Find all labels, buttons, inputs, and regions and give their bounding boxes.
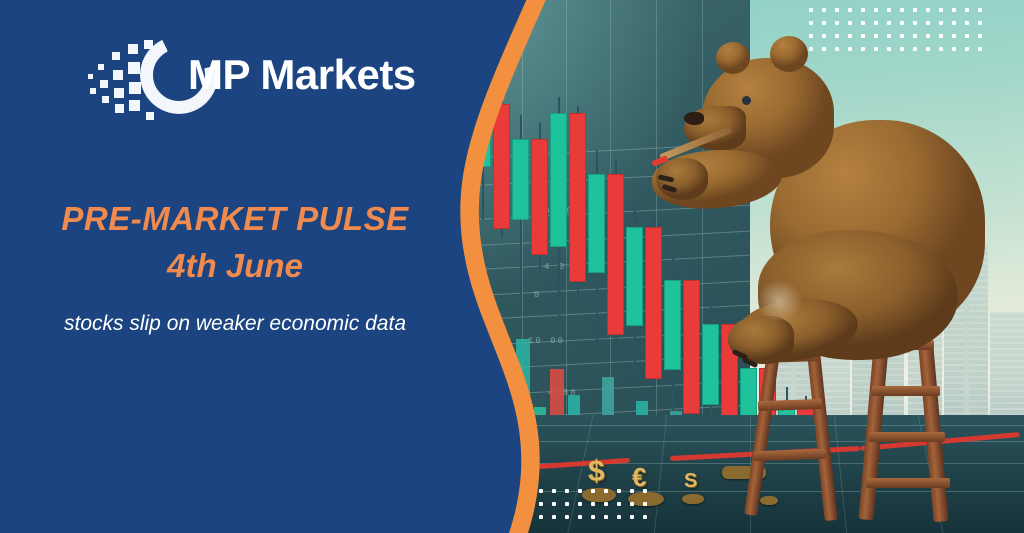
s-coin-icon: S — [684, 470, 697, 493]
decor-dot — [835, 34, 839, 38]
decor-dot — [565, 502, 569, 506]
decor-dot — [630, 515, 634, 519]
decor-dot — [939, 47, 943, 51]
decor-dot — [630, 502, 634, 506]
decor-dot — [887, 34, 891, 38]
decor-dot — [809, 8, 813, 12]
brand-name-mp: MP — [188, 51, 249, 98]
decor-dot — [952, 8, 956, 12]
decor-dot — [822, 34, 826, 38]
decor-dot — [874, 8, 878, 12]
logo-pixel-icon — [129, 82, 141, 94]
decor-dot — [913, 8, 917, 12]
decor-dot — [926, 8, 930, 12]
logo-pixel-icon — [114, 88, 124, 98]
decor-dot — [604, 502, 608, 506]
decor-dot — [978, 8, 982, 12]
decor-dot — [887, 47, 891, 51]
decor-dot — [526, 515, 530, 519]
decor-dot — [978, 21, 982, 25]
decor-dot — [526, 489, 530, 493]
decor-dot — [874, 47, 878, 51]
decor-dot — [591, 502, 595, 506]
logo-pixel-icon — [115, 104, 124, 113]
decor-dot — [861, 47, 865, 51]
decor-dot — [952, 34, 956, 38]
decor-dot — [887, 21, 891, 25]
decor-dot — [617, 502, 621, 506]
decor-dot — [965, 8, 969, 12]
decor-dot — [578, 502, 582, 506]
headline-block: PRE-MARKET PULSE 4th June stocks slip on… — [0, 196, 470, 344]
decor-dot — [604, 489, 608, 493]
logo-pixel-icon — [100, 80, 108, 88]
decor-dot — [913, 21, 917, 25]
logo-pixel-icon — [144, 40, 153, 49]
logo-pixel-icon — [88, 74, 93, 79]
logo-pixel-icon — [128, 62, 140, 74]
decor-dot — [848, 8, 852, 12]
decor-dot — [617, 515, 621, 519]
decor-dot — [539, 502, 543, 506]
decor-dot — [604, 515, 608, 519]
decor-dot — [539, 489, 543, 493]
decor-dot — [835, 8, 839, 12]
decor-dot — [900, 47, 904, 51]
illustration-panel: 77 03 09 1 00 4 0 0 10 00 20 4 88 10 20 — [470, 0, 1024, 533]
decor-dot — [913, 34, 917, 38]
brand-logo[interactable]: MP Markets — [88, 34, 388, 120]
logo-pixel-icon — [112, 52, 120, 60]
decor-dot — [643, 502, 647, 506]
decor-dot — [952, 21, 956, 25]
subtitle: stocks slip on weaker economic data — [0, 304, 470, 344]
logo-pixel-icon — [146, 112, 154, 120]
decor-dot — [630, 489, 634, 493]
decor-dot — [900, 21, 904, 25]
red-trendline — [480, 458, 630, 473]
dollar-coin-icon: $ — [588, 455, 605, 489]
decor-dot — [874, 21, 878, 25]
decor-dot — [835, 47, 839, 51]
decor-dot — [861, 34, 865, 38]
logo-pixel-icon — [128, 44, 138, 54]
decor-dot — [926, 21, 930, 25]
brand-name: MP Markets — [188, 44, 416, 106]
decor-dot — [643, 489, 647, 493]
decor-dot — [939, 21, 943, 25]
decor-dot — [978, 47, 982, 51]
promo-banner: 77 03 09 1 00 4 0 0 10 00 20 4 88 10 20 — [0, 0, 1024, 533]
decor-dot — [965, 21, 969, 25]
decor-dot — [978, 34, 982, 38]
decor-dot — [939, 8, 943, 12]
decor-dot — [861, 21, 865, 25]
logo-pixel-icon — [98, 64, 104, 70]
decor-dot-grid-bottom-left — [526, 489, 647, 519]
decor-dot — [643, 515, 647, 519]
decor-dot — [913, 47, 917, 51]
decor-dot — [552, 515, 556, 519]
logo-pixel-icon — [102, 96, 109, 103]
left-content-panel: MP Markets PRE-MARKET PULSE 4th June sto… — [0, 0, 500, 533]
decor-dot — [617, 489, 621, 493]
decor-dot — [526, 502, 530, 506]
decor-dot — [565, 489, 569, 493]
logo-pixel-icon — [129, 100, 140, 111]
decor-dot — [848, 34, 852, 38]
decor-dot — [939, 34, 943, 38]
decor-dot — [809, 21, 813, 25]
decor-dot — [578, 489, 582, 493]
decor-dot — [861, 8, 865, 12]
issue-date: 4th June — [0, 242, 470, 290]
decor-dot — [822, 21, 826, 25]
logo-pixel-icon — [90, 88, 96, 94]
decor-dot — [552, 489, 556, 493]
decor-dot — [578, 515, 582, 519]
decor-dot — [848, 21, 852, 25]
decor-dot — [809, 47, 813, 51]
decor-dot — [591, 515, 595, 519]
decor-dot — [848, 47, 852, 51]
decor-dot — [900, 8, 904, 12]
brand-name-markets: Markets — [249, 51, 415, 98]
decor-dot — [926, 47, 930, 51]
decor-dot — [965, 47, 969, 51]
decor-dot — [822, 8, 826, 12]
decor-dot — [809, 34, 813, 38]
page-title: PRE-MARKET PULSE — [0, 196, 470, 242]
decor-dot — [874, 34, 878, 38]
decor-dot — [952, 47, 956, 51]
decor-dot — [887, 8, 891, 12]
decor-dot — [565, 515, 569, 519]
decor-dot-grid-top-right — [809, 8, 982, 51]
decor-dot — [835, 21, 839, 25]
decor-dot — [900, 34, 904, 38]
decor-dot — [591, 489, 595, 493]
decor-dot — [822, 47, 826, 51]
decor-dot — [539, 515, 543, 519]
decor-dot — [552, 502, 556, 506]
decor-dot — [965, 34, 969, 38]
decor-dot — [926, 34, 930, 38]
logo-pixel-icon — [113, 70, 123, 80]
